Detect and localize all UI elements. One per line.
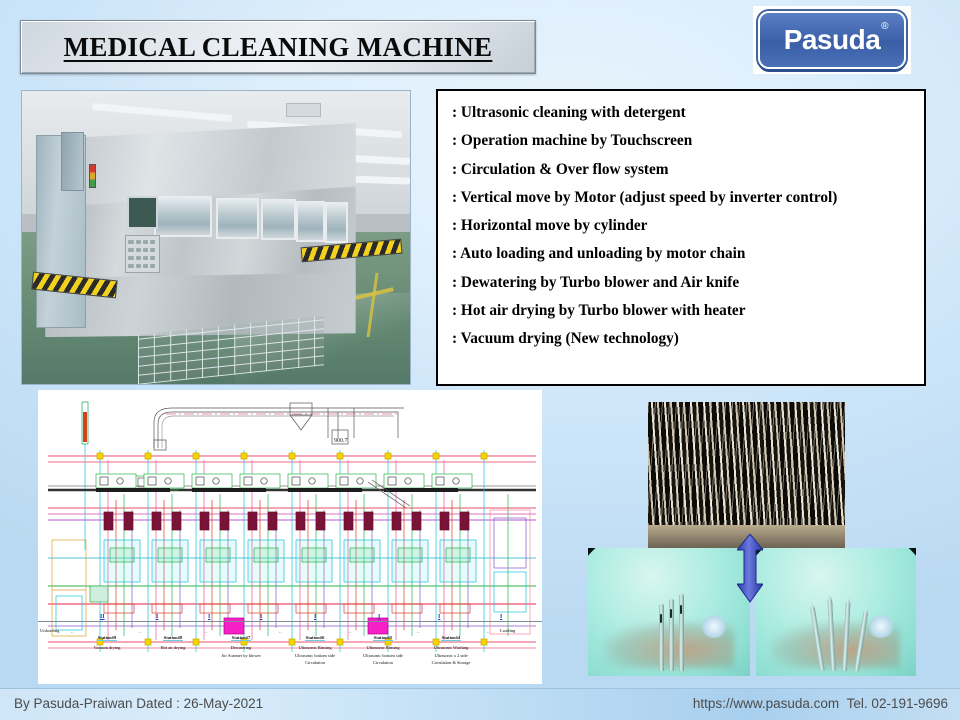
station-detail: Ultrasonic Rinsing xyxy=(352,645,414,652)
station-detail: Ultrasonic Rinsing xyxy=(284,645,346,652)
station-name: Station#4 xyxy=(441,635,462,641)
feature-list-box: : Ultrasonic cleaning with detergent : O… xyxy=(436,89,926,386)
station-name: Station#5 xyxy=(373,635,394,641)
page-title-box: MEDICAL CLEANING MACHINE xyxy=(20,20,536,74)
machine-window xyxy=(325,202,348,243)
footer-website[interactable]: https://www.pasuda.com xyxy=(693,696,839,711)
station-index: I xyxy=(378,614,380,620)
station-detail: Circulation & Storage xyxy=(418,660,484,667)
ceiling-vent-icon xyxy=(286,103,321,118)
station-detail: Ultrasonic x 2 side xyxy=(418,653,484,660)
light-reflection xyxy=(868,615,894,638)
flow-arrow-icon: ← xyxy=(138,629,143,635)
station-detail: Hot air drying xyxy=(144,645,202,652)
machine-photo xyxy=(21,90,411,385)
station-name: Station#6 xyxy=(305,635,326,641)
needle-array-photo xyxy=(648,402,845,548)
station-index: I xyxy=(500,614,502,620)
flow-loading-label: Loading xyxy=(500,628,515,633)
feature-item: : Operation machine by Touchscreen xyxy=(452,133,924,148)
needle-specimen xyxy=(669,599,674,671)
station-index: I xyxy=(314,614,316,620)
station-index: I xyxy=(260,614,262,620)
microscope-photo-before xyxy=(588,548,750,676)
station-legend: Unloading ← Station#9 Vacuum drying ← St… xyxy=(38,622,542,684)
logo-brand-text: Pasuda xyxy=(784,26,881,54)
touchscreen-hmi[interactable] xyxy=(127,196,158,228)
footer-bar: By Pasuda-Praiwan Dated : 26-May-2021 ht… xyxy=(0,688,960,720)
logo-plate: Pasuda ® xyxy=(758,11,906,69)
status-tower-light-icon xyxy=(89,164,96,187)
machine-window xyxy=(154,196,212,237)
station-detail: Dewatering xyxy=(208,645,274,652)
footer-phone: Tel. 02-191-9696 xyxy=(847,696,948,711)
feature-item: : Ultrasonic cleaning with detergent xyxy=(452,105,924,120)
station-index: II xyxy=(100,614,105,620)
station-detail: Ultrasonic bottom side xyxy=(284,653,346,660)
flow-unloading-label: Unloading xyxy=(40,628,59,633)
brand-logo: Pasuda ® xyxy=(753,6,911,74)
station-detail: Circulation xyxy=(284,660,346,667)
feature-item: : Vacuum drying (New technology) xyxy=(452,331,924,346)
feature-item: : Horizontal move by cylinder xyxy=(452,218,924,233)
feature-item: : Auto loading and unloading by motor ch… xyxy=(452,246,924,261)
control-cabinet-top xyxy=(61,132,84,191)
station-detail: Ultrasonic Washing xyxy=(418,645,484,652)
feature-item: : Hot air drying by Turbo blower with he… xyxy=(452,303,924,318)
registered-trademark-icon: ® xyxy=(881,22,888,32)
flow-arrow-icon: ← xyxy=(278,629,283,635)
footer-contact: https://www.pasuda.com Tel. 02-191-9696 xyxy=(693,696,948,711)
station-detail: Circulation xyxy=(352,660,414,667)
flow-arrow-icon: ← xyxy=(486,629,491,635)
machine-window xyxy=(296,201,325,242)
engineering-diagram: 900.7 Unloading ← Station#9 Vacuum dryin… xyxy=(38,390,542,684)
operator-keypad[interactable] xyxy=(125,235,160,273)
feature-item: : Vertical move by Motor (adjust speed b… xyxy=(452,190,924,205)
page-title: MEDICAL CLEANING MACHINE xyxy=(64,32,493,63)
station-detail: Ultrasonic bottom side xyxy=(352,653,414,660)
feature-item: : Dewatering by Turbo blower and Air kni… xyxy=(452,275,924,290)
duct-size-label: 900.7 xyxy=(334,438,348,444)
station-index: I xyxy=(438,614,440,620)
needle-specimen xyxy=(679,594,684,671)
station-index: I xyxy=(208,614,210,620)
station-name: Station#9 xyxy=(97,635,118,641)
machine-window xyxy=(216,198,259,239)
station-index: I xyxy=(156,614,158,620)
flow-arrow-icon: ← xyxy=(70,629,75,635)
station-name: Station#7 xyxy=(231,635,252,641)
feature-item: : Circulation & Over flow system xyxy=(452,162,924,177)
light-reflection xyxy=(701,615,727,638)
station-name: Station#8 xyxy=(163,635,184,641)
footer-author: By Pasuda-Praiwan Dated : 26-May-2021 xyxy=(14,696,263,711)
machine-window xyxy=(261,199,296,240)
microscope-photo-after xyxy=(756,548,916,676)
station-detail: Vacuum drying xyxy=(78,645,136,652)
station-detail: Air Scanner by blower xyxy=(208,653,274,660)
slide-canvas: MEDICAL CLEANING MACHINE Pasuda ® xyxy=(0,0,960,720)
needle-specimen xyxy=(659,604,664,671)
comparison-arrow-icon xyxy=(737,534,763,626)
